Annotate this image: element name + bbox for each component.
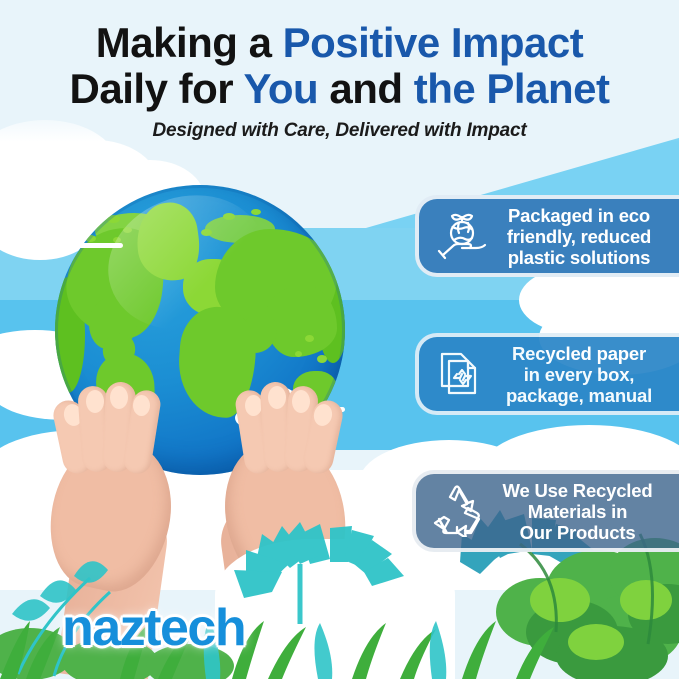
badge-3-line-1: We Use Recycled: [490, 480, 665, 501]
recycle-symbol-icon: [428, 485, 490, 537]
recycled-paper-documents-icon: [431, 348, 493, 400]
page-title-line-2: Daily for You and the Planet: [0, 66, 679, 112]
badge-card-eco-packaging: Packaged in eco friendly, reduced plasti…: [415, 195, 679, 277]
title-emphasis-1: Positive Impact: [283, 19, 584, 66]
hand-holding-globe-sprout-icon: [431, 211, 493, 261]
badge-3-line-3: Our Products: [490, 522, 665, 543]
badge-2-line-1: Recycled paper: [493, 343, 665, 364]
badge-card-eco-packaging-text: Packaged in eco friendly, reduced plasti…: [493, 205, 673, 268]
badge-card-recycled-materials-text: We Use Recycled Materials in Our Product…: [490, 480, 673, 543]
badge-1-line-2: friendly, reduced: [493, 226, 665, 247]
badge-1-line-3: plastic solutions: [493, 247, 665, 268]
title-plain-1: Making a: [96, 19, 283, 66]
header-block: Making a Positive Impact Daily for You a…: [0, 0, 679, 142]
page-title-line-1: Making a Positive Impact: [0, 20, 679, 66]
badge-card-recycled-paper-text: Recycled paper in every box, package, ma…: [493, 343, 673, 406]
badge-3-line-2: Materials in: [490, 501, 665, 522]
badge-2-line-3: package, manual: [493, 385, 665, 406]
title-plain-2b: and: [318, 65, 414, 112]
badge-1-line-1: Packaged in eco: [493, 205, 665, 226]
poster-canvas: naztech Making a Positive Impact Daily f…: [0, 0, 679, 679]
badge-card-recycled-paper: Recycled paper in every box, package, ma…: [415, 333, 679, 415]
page-subtitle: Designed with Care, Delivered with Impac…: [0, 120, 679, 142]
title-emphasis-2a: You: [244, 65, 319, 112]
badge-2-line-2: in every box,: [493, 364, 665, 385]
naztech-logo: naztech: [62, 598, 245, 658]
title-emphasis-2b: the Planet: [414, 65, 610, 112]
title-plain-2a: Daily for: [70, 65, 244, 112]
badge-card-recycled-materials: We Use Recycled Materials in Our Product…: [412, 470, 679, 552]
